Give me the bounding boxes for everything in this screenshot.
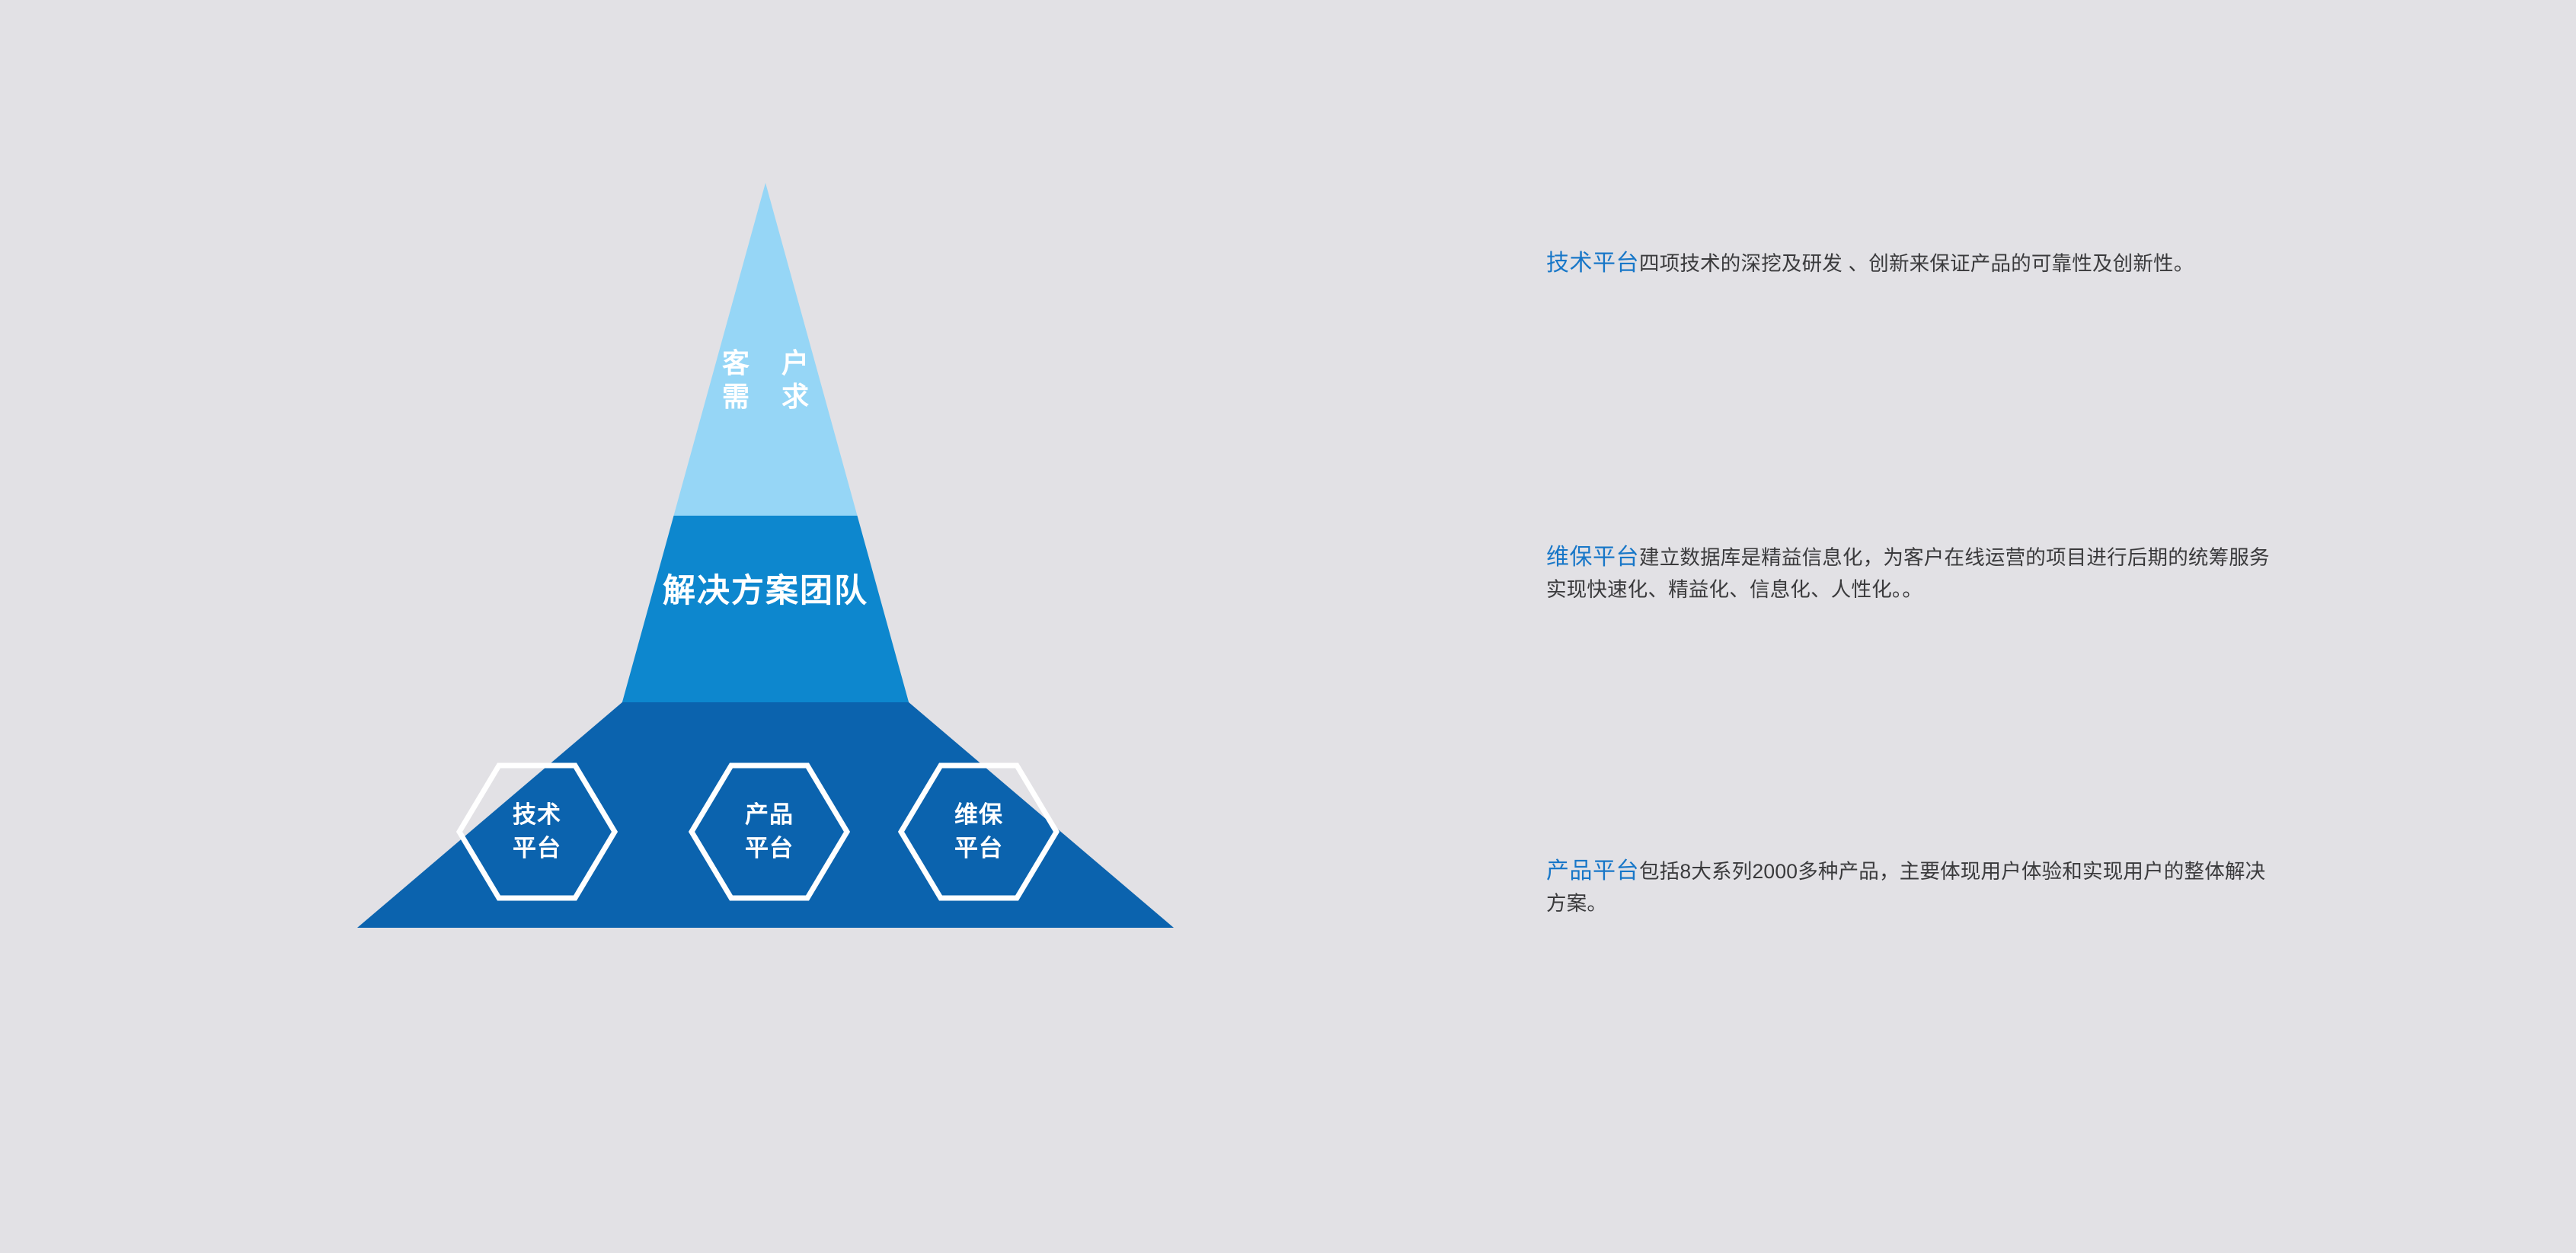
description-product-platform: 产品平台包括8大系列2000多种产品，主要体现用户体验和实现用户的整体解决方案。 xyxy=(1546,854,2277,919)
description-tech-platform-body: 四项技术的深挖及研发 、创新来保证产品的可靠性及创新性。 xyxy=(1639,252,2194,275)
description-tech-platform: 技术平台四项技术的深挖及研发 、创新来保证产品的可靠性及创新性。 xyxy=(1546,246,2277,281)
pyramid-diagram: 客 户 需 求 解决方案团队 技术 平台 产品 平台 xyxy=(328,160,1203,960)
hexagon-maintenance-platform[interactable]: 维保 平台 xyxy=(897,762,1060,902)
hexagon-product-platform[interactable]: 产品 平台 xyxy=(688,762,851,902)
diagram-canvas: 客 户 需 求 解决方案团队 技术 平台 产品 平台 xyxy=(0,0,2576,1253)
hexagon-tech-platform[interactable]: 技术 平台 xyxy=(455,762,618,902)
hexagon-outline-icon xyxy=(688,762,851,902)
hexagon-outline-icon xyxy=(455,762,618,902)
description-product-platform-title: 产品平台 xyxy=(1546,858,1639,884)
pyramid-tier-middle xyxy=(622,516,909,702)
description-maintenance-platform-body: 建立数据库是精益信息化，为客户在线运营的项目进行后期的统筹服务实现快速化、精益化… xyxy=(1546,546,2270,602)
description-maintenance-platform-title: 维保平台 xyxy=(1546,545,1639,570)
description-maintenance-platform: 维保平台建立数据库是精益信息化，为客户在线运营的项目进行后期的统筹服务实现快速化… xyxy=(1546,540,2277,606)
description-tech-platform-title: 技术平台 xyxy=(1546,251,1639,276)
pyramid-tier-top xyxy=(674,183,858,516)
hexagon-outline-icon xyxy=(897,762,1060,902)
description-product-platform-body: 包括8大系列2000多种产品，主要体现用户体验和实现用户的整体解决方案。 xyxy=(1546,860,2265,916)
